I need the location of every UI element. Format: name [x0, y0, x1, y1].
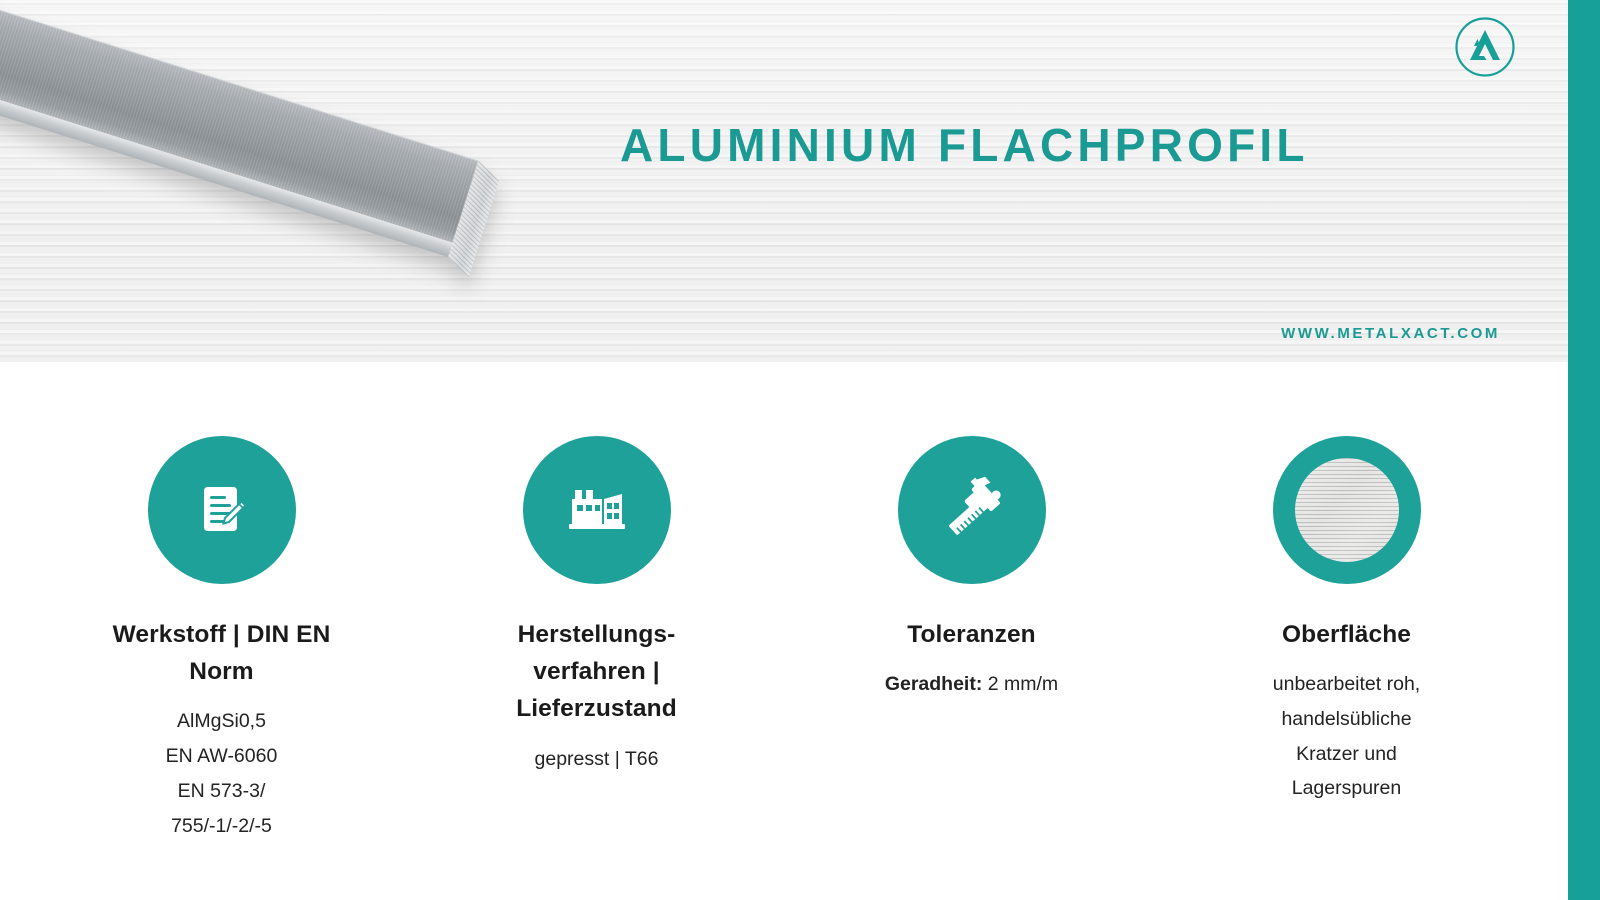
website-url[interactable]: WWW.METALXACT.COM: [1281, 325, 1500, 342]
bar-top-face: [0, 0, 478, 243]
column-title: Herstellungs-verfahren | Lieferzustand: [467, 616, 727, 728]
product-info-slide: ALUMINIUM FLACHPROFIL WWW.METALXACT.COM: [0, 0, 1600, 900]
accent-bar-right: [1568, 0, 1600, 900]
body-line: 755/-1/-2/-5: [166, 809, 278, 844]
metalxact-logo-icon[interactable]: [1454, 16, 1516, 78]
caliper-icon: [898, 436, 1046, 584]
column-oberflaeche: Oberfläche unbearbeitet roh, handelsübli…: [1159, 362, 1534, 900]
aluminium-flat-bar-image: [0, 0, 586, 362]
tolerance-label: Geradheit:: [885, 673, 983, 695]
column-title: Toleranzen: [907, 616, 1036, 653]
body-line: unbearbeitet roh,: [1273, 667, 1420, 702]
column-body: Geradheit: 2 mm/m: [885, 667, 1058, 702]
document-pencil-icon: [148, 436, 296, 584]
body-line: Kratzer und: [1273, 737, 1420, 772]
body-line: gepresst | T66: [535, 742, 659, 777]
hero-section: ALUMINIUM FLACHPROFIL WWW.METALXACT.COM: [0, 0, 1568, 362]
column-body: unbearbeitet roh, handelsübliche Kratzer…: [1273, 667, 1420, 806]
tolerance-value: 2 mm/m: [988, 673, 1058, 695]
body-line: Lagerspuren: [1273, 771, 1420, 806]
column-body: gepresst | T66: [535, 742, 659, 777]
page-title: ALUMINIUM FLACHPROFIL: [620, 118, 1309, 172]
column-toleranzen: Toleranzen Geradheit: 2 mm/m: [784, 362, 1159, 900]
body-line: EN 573-3/: [166, 774, 278, 809]
factory-icon: [523, 436, 671, 584]
tolerance-line: Geradheit: 2 mm/m: [885, 667, 1058, 702]
column-title: Oberfläche: [1282, 616, 1411, 653]
brushed-metal-swatch: [1295, 458, 1399, 562]
column-herstellungsverfahren: Herstellungs-verfahren | Lieferzustand g…: [409, 362, 784, 900]
column-body: AlMgSi0,5 EN AW-6060 EN 573-3/ 755/-1/-2…: [166, 704, 278, 843]
column-title: Werkstoff | DIN EN Norm: [92, 616, 352, 690]
body-line: handelsübliche: [1273, 702, 1420, 737]
feature-columns: Werkstoff | DIN EN Norm AlMgSi0,5 EN AW-…: [0, 362, 1568, 900]
surface-swatch-icon: [1273, 436, 1421, 584]
body-line: EN AW-6060: [166, 739, 278, 774]
body-line: AlMgSi0,5: [166, 704, 278, 739]
column-werkstoff: Werkstoff | DIN EN Norm AlMgSi0,5 EN AW-…: [34, 362, 409, 900]
